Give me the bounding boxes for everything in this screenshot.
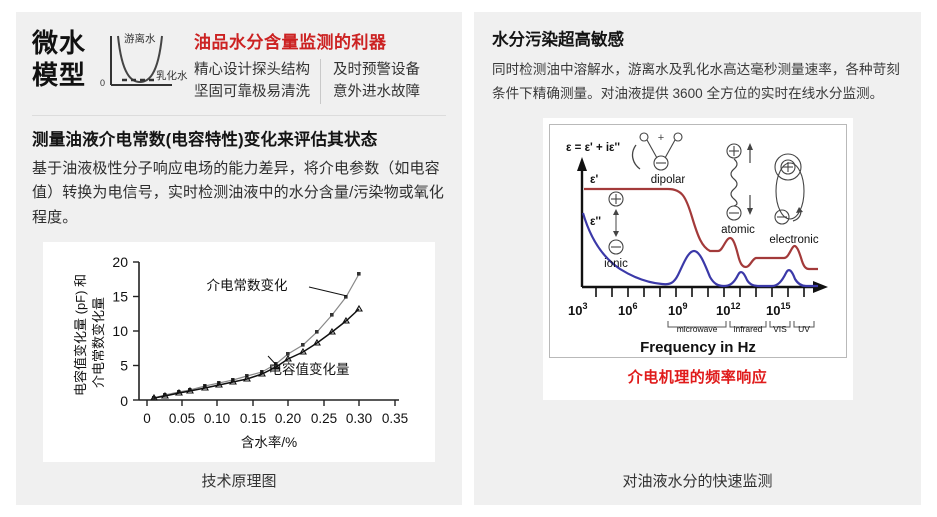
feature-item: 及时预警设备	[333, 59, 420, 81]
left-panel-caption: 技术原理图	[16, 470, 462, 491]
series-capacitance-markers	[151, 306, 362, 400]
brand-title-line1: 微水	[32, 28, 86, 60]
annotation-capacitance: 电容值变化量	[269, 361, 350, 377]
svg-text:5: 5	[120, 357, 128, 373]
svg-text:0.15: 0.15	[240, 411, 266, 426]
left-section-title: 测量油液介电常数(电容特性)变化来评估其状态	[32, 126, 446, 150]
svg-text:0: 0	[120, 393, 128, 409]
y-tick-labels: 20 15 10 5 0	[112, 254, 128, 409]
right-panel-caption: 对油液水分的快速监测	[474, 470, 921, 491]
dielectric-figure-caption: 介电机理的频率响应	[549, 358, 847, 387]
feature-item: 精心设计探头结构	[194, 59, 310, 81]
principle-chart-card: 20 15 10 5 0 0	[43, 242, 435, 462]
svg-text:109: 109	[668, 301, 687, 318]
x-tick-labels: 0 0.05 0.10 0.15 0.20 0.25 0.30 0.35	[143, 411, 408, 426]
svg-text:0.05: 0.05	[169, 411, 195, 426]
svg-text:0.30: 0.30	[346, 411, 372, 426]
right-section-body: 同时检测油中溶解水，游离水及乳化水高达毫秒测量速率，各种苛刻条件下精确测量。对油…	[492, 58, 903, 106]
svg-text:0.25: 0.25	[311, 411, 337, 426]
left-panel: 微水 模型 0 游离水 乳化水 油品水分含量监测的利器	[16, 12, 462, 505]
right-section-title: 水分污染超高敏感	[492, 26, 903, 50]
atomic-mechanism-icon	[727, 143, 753, 220]
dipolar-label: dipolar	[650, 174, 685, 186]
svg-text:20: 20	[112, 254, 128, 270]
annotation-dielectric: 介电常数变化	[207, 278, 288, 293]
y-axis-label: 电容值变化量 (pF) 和 介电常数变化量	[73, 274, 106, 396]
header-divider	[32, 115, 446, 116]
svg-text:1012: 1012	[716, 301, 740, 318]
right-panel: 水分污染超高敏感 同时检测油中溶解水，游离水及乳化水高达毫秒测量速率，各种苛刻条…	[474, 12, 921, 505]
svg-text:0.10: 0.10	[204, 411, 230, 426]
epsilon-imag-label: ε''	[590, 216, 601, 228]
header-text-block: 油品水分含量监测的利器 精心设计探头结构 坚固可靠极易清洗 及时预警设备 意外进…	[194, 26, 446, 104]
svg-text:10: 10	[112, 323, 128, 339]
svg-text:电容值变化量 (pF) 和: 电容值变化量 (pF) 和	[73, 274, 88, 396]
page-root: 微水 模型 0 游离水 乳化水 油品水分含量监测的利器	[0, 0, 937, 517]
svg-text:103: 103	[568, 301, 587, 318]
water-curve-icon: 0 游离水 乳化水	[94, 30, 186, 96]
svg-text:microwave: microwave	[676, 324, 717, 334]
frequency-tick-labels: 103 106 109 1012 1015	[568, 301, 790, 318]
svg-text:0.20: 0.20	[275, 411, 301, 426]
dipolar-mechanism-icon: +	[632, 132, 681, 170]
svg-text:15: 15	[112, 288, 128, 304]
feature-item: 意外进水故障	[333, 81, 420, 103]
svg-text:1015: 1015	[766, 301, 790, 318]
svg-text:106: 106	[618, 301, 637, 318]
dielectric-figure-card: ε = ε' + iε''	[543, 118, 853, 400]
svg-text:0.35: 0.35	[382, 411, 408, 426]
svg-text:UV: UV	[798, 324, 810, 334]
svg-text:+: +	[657, 132, 663, 144]
left-section-body: 基于油液极性分子响应电场的能力差异，将介电参数（如电容值）转换为电信号，实时检测…	[32, 157, 446, 230]
header-kicker: 油品水分含量监测的利器	[194, 28, 446, 53]
brand-icon-origin-label: 0	[100, 78, 105, 88]
svg-text:infrared: infrared	[733, 324, 762, 334]
x-axis-label: 含水率/%	[241, 434, 297, 450]
feature-columns: 精心设计探头结构 坚固可靠极易清洗 及时预警设备 意外进水故障	[194, 59, 446, 104]
epsilon-real-label: ε'	[590, 174, 598, 186]
brand-title-line2: 模型	[32, 60, 86, 92]
feature-item: 坚固可靠极易清洗	[194, 81, 310, 103]
dielectric-figure-frame: ε = ε' + iε''	[549, 124, 847, 358]
svg-text:VIS: VIS	[773, 324, 787, 334]
brand-title: 微水 模型	[32, 26, 86, 91]
frequency-axis-title: Frequency in Hz	[640, 339, 756, 356]
permittivity-formula: ε = ε' + iε''	[566, 142, 620, 154]
series-capacitance-line	[154, 309, 359, 398]
brand-icon-top-label: 游离水	[124, 32, 156, 45]
capacitance-chart: 20 15 10 5 0 0	[47, 248, 431, 456]
left-header: 微水 模型 0 游离水 乳化水 油品水分含量监测的利器	[32, 26, 446, 104]
svg-text:0: 0	[143, 411, 151, 426]
electronic-mechanism-icon	[775, 154, 804, 224]
dielectric-response-chart: ε = ε' + iε''	[550, 125, 846, 357]
ionic-label: ionic	[604, 258, 628, 270]
feature-column-a: 精心设计探头结构 坚固可靠极易清洗	[194, 59, 320, 104]
brand-icon-side-label: 乳化水	[156, 69, 188, 82]
atomic-label: atomic	[721, 224, 755, 236]
svg-text:介电常数变化量: 介电常数变化量	[91, 297, 106, 388]
electronic-label: electronic	[769, 234, 818, 246]
feature-column-b: 及时预警设备 意外进水故障	[320, 59, 420, 104]
ionic-mechanism-icon	[609, 192, 623, 254]
